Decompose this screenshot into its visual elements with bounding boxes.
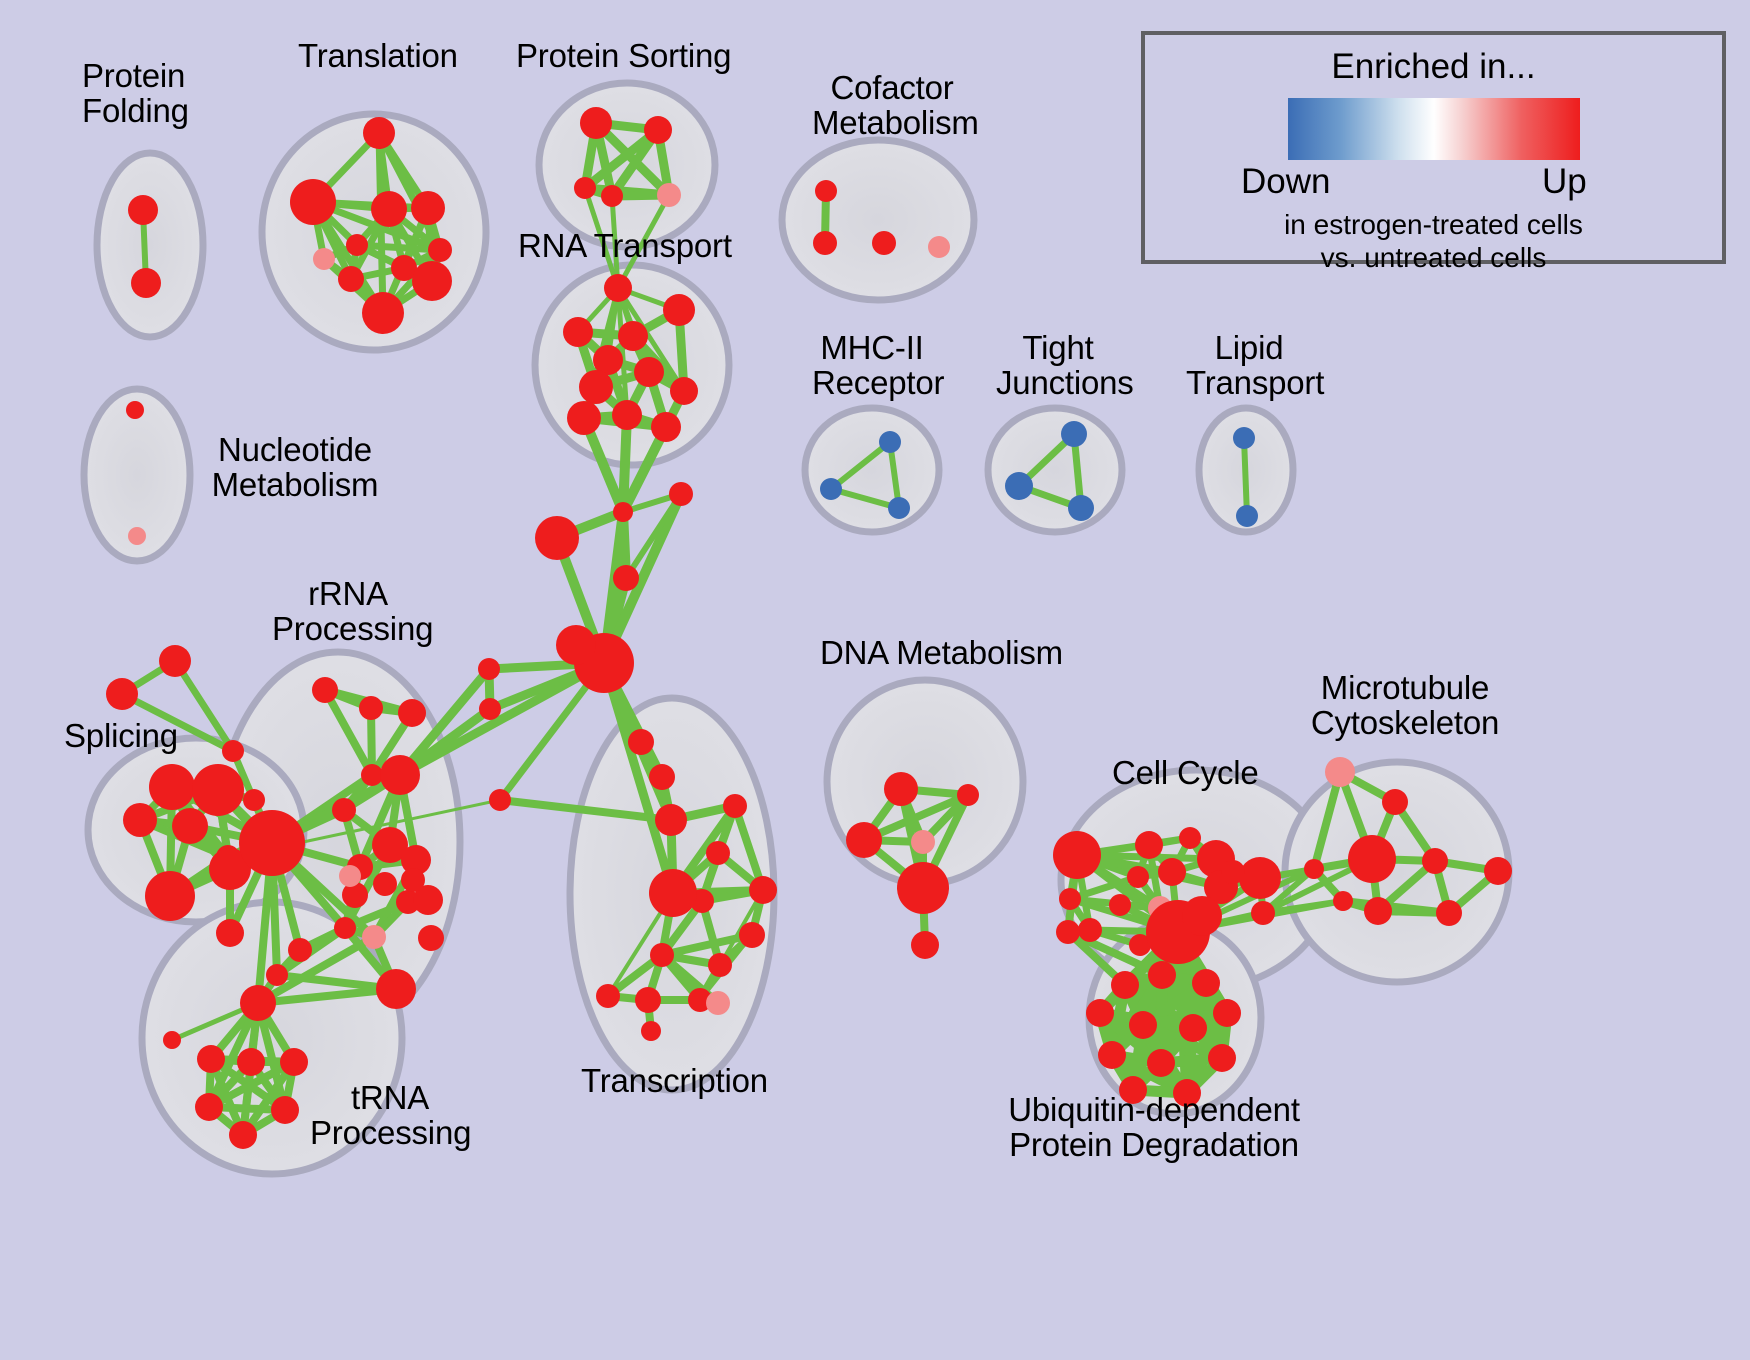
node [239, 810, 305, 876]
node [644, 116, 672, 144]
network-figure: Protein Folding Translation Protein Sort… [0, 0, 1750, 1360]
node [651, 412, 681, 442]
node [1304, 859, 1324, 879]
node [650, 943, 674, 967]
node [596, 984, 620, 1008]
node [197, 1045, 225, 1073]
node [489, 789, 511, 811]
node [911, 830, 935, 854]
node [1061, 421, 1087, 447]
node [618, 321, 648, 351]
node [1053, 831, 1101, 879]
node [479, 698, 501, 720]
node [1182, 896, 1222, 936]
node [1059, 888, 1081, 910]
node [418, 925, 444, 951]
node [240, 985, 276, 1021]
node [334, 917, 356, 939]
node [362, 292, 404, 334]
node [613, 502, 633, 522]
cluster-label-trna-processing: tRNA Processing [310, 1080, 470, 1151]
legend-up-label: Up [1542, 162, 1587, 202]
node [373, 872, 397, 896]
node [815, 180, 837, 202]
node [128, 195, 158, 225]
node [149, 764, 195, 810]
node [126, 401, 144, 419]
node [1213, 999, 1241, 1027]
cluster-label-rna-transport: RNA Transport [518, 228, 732, 263]
node [1233, 427, 1255, 449]
node [346, 234, 368, 256]
node [897, 862, 949, 914]
node [312, 677, 338, 703]
node [628, 729, 654, 755]
node [271, 1096, 299, 1124]
node [192, 764, 244, 816]
cluster-label-transcription: Transcription [581, 1063, 768, 1098]
node [1147, 1049, 1175, 1077]
node [280, 1048, 308, 1076]
node [195, 1093, 223, 1121]
node [1484, 857, 1512, 885]
node [879, 431, 901, 453]
node [1333, 891, 1353, 911]
node [739, 922, 765, 948]
node [1208, 1044, 1236, 1072]
node [128, 527, 146, 545]
cluster-label-microtubule-cytoskeleton: Microtubule Cytoskeleton [1310, 670, 1500, 741]
node [649, 764, 675, 790]
hull-protein-folding [97, 153, 203, 337]
node [604, 274, 632, 302]
cluster-label-tight-junctions: Tight Junctions [996, 330, 1120, 401]
node [339, 865, 361, 887]
node [579, 370, 613, 404]
node [1158, 858, 1186, 886]
edge [1244, 438, 1247, 516]
node [229, 1121, 257, 1149]
node [1422, 848, 1448, 874]
node [411, 191, 445, 225]
node [846, 822, 882, 858]
node [1364, 897, 1392, 925]
cluster-label-cofactor-metabolism: Cofactor Metabolism [812, 70, 972, 141]
node [290, 179, 336, 225]
node [243, 789, 265, 811]
node [1221, 860, 1245, 884]
hull-mhc [805, 408, 939, 532]
node [428, 238, 452, 262]
node [1179, 1014, 1207, 1042]
node [237, 1048, 265, 1076]
node [361, 764, 383, 786]
cluster-label-rrna-processing: rRNA Processing [272, 576, 424, 647]
node [1251, 901, 1275, 925]
node [1056, 920, 1080, 944]
node [216, 919, 244, 947]
node [1239, 857, 1281, 899]
node [663, 294, 695, 326]
legend-subtitle-line1: in estrogen-treated cells [1145, 208, 1722, 241]
node [911, 931, 939, 959]
node [159, 645, 191, 677]
node [706, 841, 730, 865]
node [556, 625, 596, 665]
node [222, 740, 244, 762]
node [131, 268, 161, 298]
node [601, 185, 623, 207]
node [1109, 894, 1131, 916]
node [163, 1031, 181, 1049]
hull-cofactor [782, 140, 974, 300]
cluster-label-ubiquitin-protein-degradation: Ubiquitin-dependent Protein Degradation [999, 1092, 1309, 1163]
node [172, 808, 208, 844]
legend-panel: Enriched in... Down Up in estrogen-treat… [1141, 31, 1726, 264]
node [1078, 918, 1102, 942]
cluster-label-mhc-ii-receptor: MHC-II Receptor [812, 330, 932, 401]
node [928, 236, 950, 258]
node [376, 969, 416, 1009]
cluster-label-protein-folding: Protein Folding [82, 58, 189, 129]
node [563, 317, 593, 347]
node [723, 794, 747, 818]
node [641, 1021, 661, 1041]
cluster-label-dna-metabolism: DNA Metabolism [820, 635, 1063, 670]
node [669, 482, 693, 506]
node [580, 107, 612, 139]
node [1236, 505, 1258, 527]
legend-subtitle-line2: vs. untreated cells [1145, 241, 1722, 274]
node [371, 191, 407, 227]
hull-tight-junctions [988, 408, 1122, 532]
node [1068, 495, 1094, 521]
node [266, 964, 288, 986]
node [957, 784, 979, 806]
node [359, 696, 383, 720]
hull-protein-sorting [539, 83, 715, 247]
node [635, 987, 661, 1013]
node [1111, 971, 1139, 999]
node [288, 938, 312, 962]
node [338, 266, 364, 292]
cluster-label-splicing: Splicing [64, 718, 178, 753]
node [478, 658, 500, 680]
node [332, 798, 356, 822]
node [1005, 472, 1033, 500]
node [1098, 1041, 1126, 1069]
legend-title: Enriched in... [1145, 47, 1722, 87]
node [820, 478, 842, 500]
legend-color-gradient-bar [1288, 98, 1580, 160]
node [362, 925, 386, 949]
node [1348, 835, 1396, 883]
node [1382, 789, 1408, 815]
node [884, 772, 918, 806]
node [613, 565, 639, 591]
node [567, 401, 601, 435]
node [412, 261, 452, 301]
node [398, 699, 426, 727]
node [888, 497, 910, 519]
node [401, 868, 425, 892]
node [1127, 866, 1149, 888]
cluster-label-cell-cycle: Cell Cycle [1112, 755, 1259, 790]
node [706, 991, 730, 1015]
node [1086, 999, 1114, 1027]
node [708, 953, 732, 977]
node [657, 183, 681, 207]
node [535, 516, 579, 560]
node [363, 117, 395, 149]
node [649, 869, 697, 917]
cluster-label-nucleotide-metabolism: Nucleotide Metabolism [206, 432, 384, 503]
node [145, 871, 195, 921]
node [670, 377, 698, 405]
node [749, 876, 777, 904]
node [872, 231, 896, 255]
cluster-label-protein-sorting: Protein Sorting [516, 38, 731, 73]
node [1179, 827, 1201, 849]
node [574, 177, 596, 199]
node [1148, 961, 1176, 989]
node [1129, 1011, 1157, 1039]
node [123, 803, 157, 837]
node [655, 804, 687, 836]
legend-endpoints: Down Up [1145, 160, 1722, 208]
cluster-label-translation: Translation [298, 38, 458, 73]
node [106, 678, 138, 710]
node [813, 231, 837, 255]
node [1192, 969, 1220, 997]
node [1325, 757, 1355, 787]
node [634, 357, 664, 387]
node [1436, 900, 1462, 926]
node [612, 400, 642, 430]
node [380, 755, 420, 795]
cluster-label-lipid-transport: Lipid Transport [1186, 330, 1312, 401]
node [1135, 831, 1163, 859]
legend-down-label: Down [1241, 162, 1330, 202]
node [313, 248, 335, 270]
